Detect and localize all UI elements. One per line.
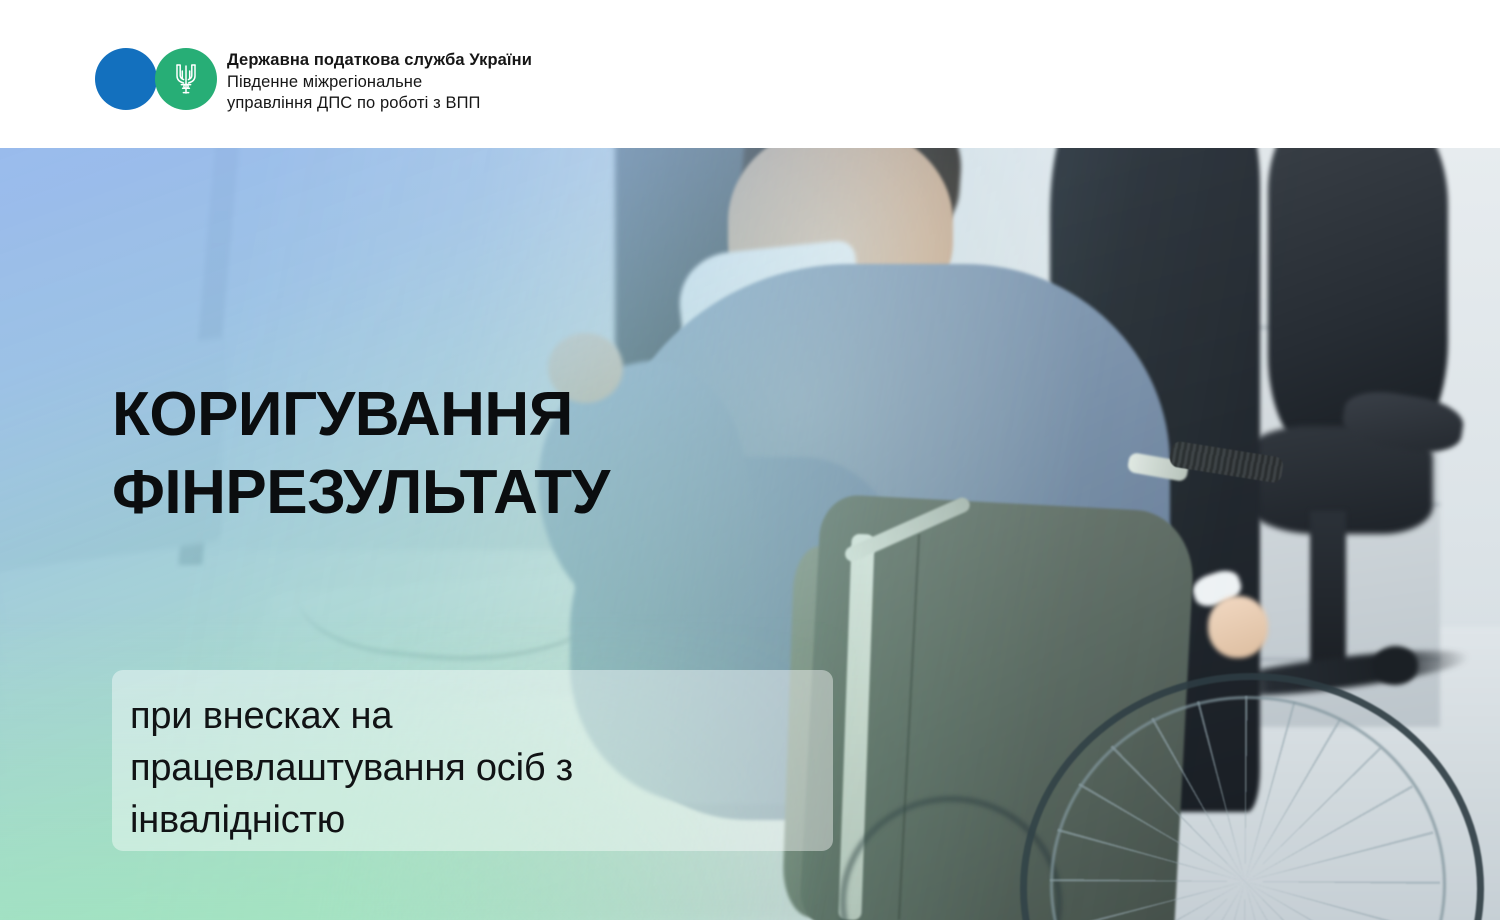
org-line-2: Південне міжрегіональне (227, 72, 532, 94)
page-header: Державна податкова служба України Півден… (0, 0, 1500, 148)
org-line-1: Державна податкова служба України (227, 50, 532, 72)
headline-line-1: КОРИГУВАННЯ (112, 376, 872, 454)
agency-logo (95, 48, 217, 110)
poster-banner: Державна податкова служба України Півден… (0, 0, 1500, 920)
organization-brand: Державна податкова служба України Півден… (95, 48, 532, 115)
green-circle-icon (155, 48, 217, 110)
organization-name: Державна податкова служба України Півден… (227, 48, 532, 115)
subtitle-line-3: інвалідністю (130, 794, 807, 846)
blue-circle-icon (95, 48, 157, 110)
org-line-3: управління ДПС по роботі з ВПП (227, 93, 532, 115)
page-title: КОРИГУВАННЯ ФІНРЕЗУЛЬТАТУ (112, 376, 872, 532)
suit-hand (1208, 596, 1268, 658)
headline-line-2: ФІНРЕЗУЛЬТАТУ (112, 454, 872, 532)
subtitle-panel: при внесках на працевлаштування осіб з і… (112, 670, 833, 851)
subtitle-line-1: при внесках на (130, 690, 807, 742)
hero-section: КОРИГУВАННЯ ФІНРЕЗУЛЬТАТУ при внесках на… (0, 148, 1500, 920)
ukrainian-trident-icon (173, 62, 199, 96)
office-chair-caster (1373, 646, 1418, 685)
office-chair-post (1310, 511, 1346, 681)
subtitle-line-2: працевлаштування осіб з (130, 742, 807, 794)
